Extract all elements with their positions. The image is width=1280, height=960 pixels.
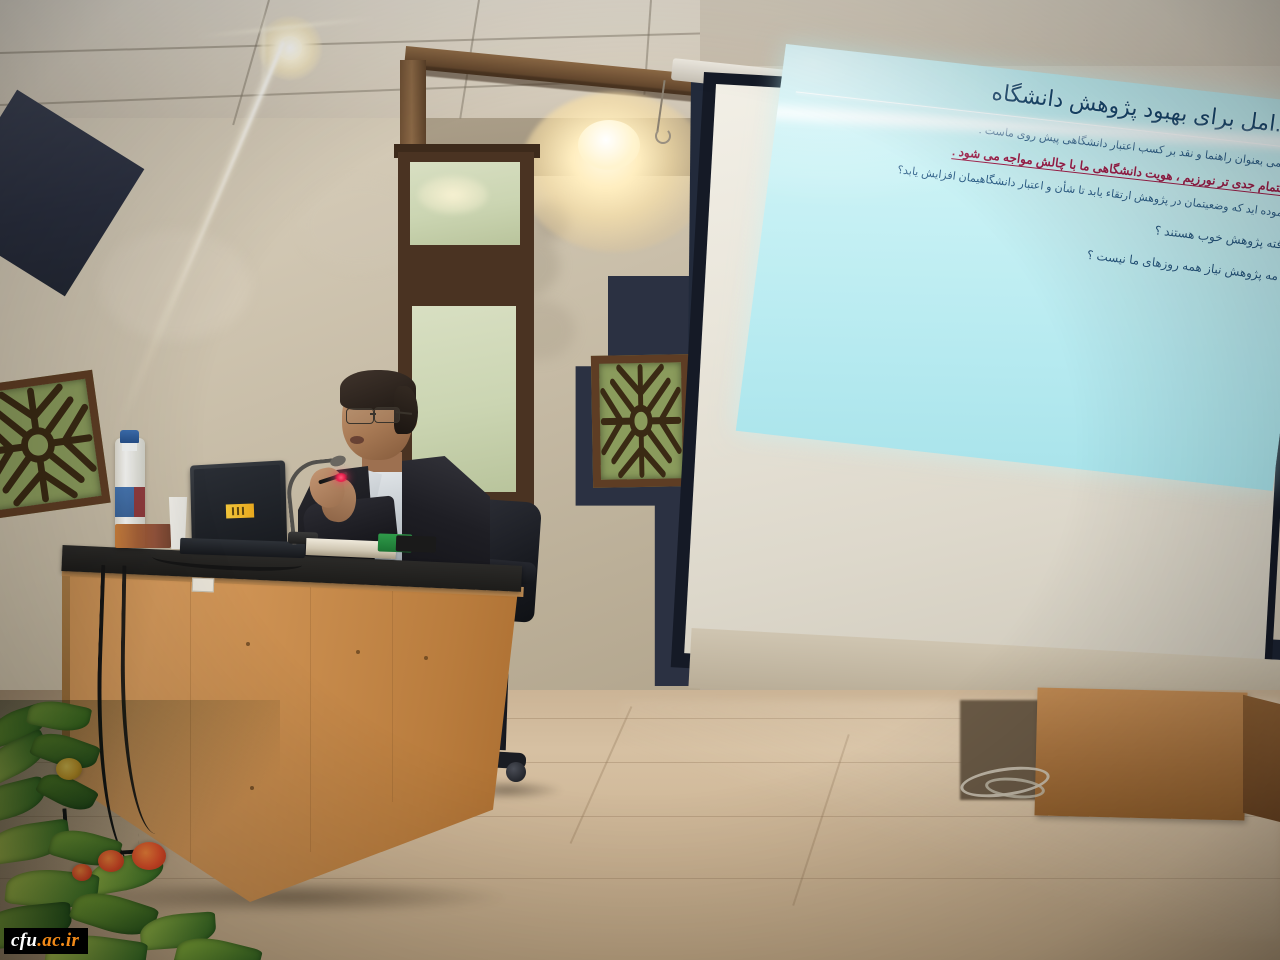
flower-orange xyxy=(132,842,166,870)
ceiling-grid-line xyxy=(0,31,745,54)
watermark-domain: .ac.ir xyxy=(37,930,79,951)
dark-desk-object[interactable] xyxy=(396,535,437,552)
wood-grain xyxy=(310,572,311,852)
desk-screw xyxy=(246,642,250,646)
flower-orange xyxy=(98,850,124,872)
girih-pattern-icon xyxy=(599,362,683,479)
water-bottle-label-accent xyxy=(134,487,145,517)
watermark-name: cfu xyxy=(11,930,37,951)
eyeglasses-right-lens xyxy=(374,407,400,423)
desk-screw xyxy=(424,656,428,660)
door-glass-reflection xyxy=(418,176,488,214)
water-bottle-cap[interactable] xyxy=(120,430,139,443)
wood-grain xyxy=(392,572,393,802)
wooden-platform-box-side xyxy=(1243,695,1280,823)
decorative-foliage xyxy=(0,700,280,960)
flower-yellow xyxy=(56,758,82,780)
girih-lattice-panel-left xyxy=(0,370,111,521)
desk-asset-sticker xyxy=(192,578,214,593)
mouth xyxy=(350,436,364,444)
lamp-hook xyxy=(655,128,671,144)
projected-slide: ...امل برای بهبود پژوهش دانشگاه مهمی بعن… xyxy=(736,44,1280,491)
door-mullion xyxy=(400,246,530,264)
eyeglasses-left-lens xyxy=(346,408,374,424)
eyeglasses-bridge xyxy=(370,413,376,415)
girih-lattice-panel-right xyxy=(591,354,691,488)
laptop-sticker xyxy=(226,504,254,519)
lecture-hall-photo: ...امل برای بهبود پژوهش دانشگاه مهمی بعن… xyxy=(0,0,1280,960)
site-watermark: cfu.ac.ir xyxy=(4,928,88,954)
office-chair-caster xyxy=(506,762,526,782)
snack-package[interactable] xyxy=(115,524,171,548)
desk-screw xyxy=(356,650,360,654)
flower-orange xyxy=(72,864,92,881)
warm-pendant-lamp xyxy=(578,120,640,170)
warm-pendant-lamp-glow xyxy=(520,92,710,252)
girih-pattern-icon xyxy=(0,379,102,511)
wooden-platform-box xyxy=(1034,687,1247,820)
